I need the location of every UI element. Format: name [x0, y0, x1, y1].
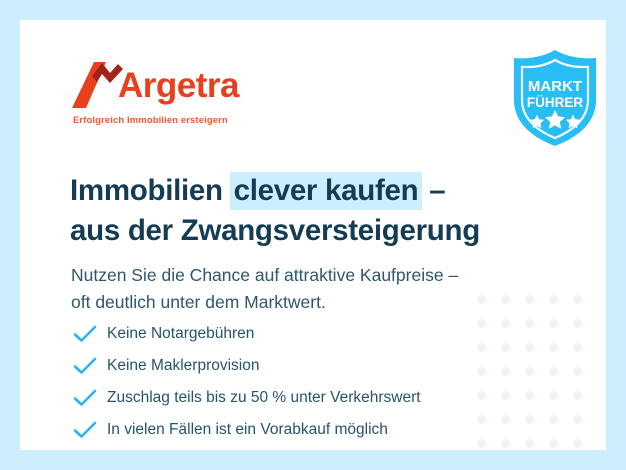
benefit-list: Keine Notargebühren Keine Maklerprovisio… [72, 318, 542, 446]
logo-wordmark: Argetra [118, 66, 239, 106]
list-item-label: Keine Maklerprovision [107, 356, 260, 376]
check-icon [72, 324, 98, 344]
list-item-label: Zuschlag teils bis zu 50 % unter Verkehr… [107, 388, 421, 408]
list-item: Keine Maklerprovision [72, 350, 542, 382]
list-item-label: Keine Notargebühren [107, 324, 254, 344]
list-item-label: In vielen Fällen ist ein Vorabkauf mögli… [107, 420, 388, 440]
badge-line1: MARKT [528, 78, 582, 95]
dot [573, 343, 582, 352]
dot [573, 391, 582, 400]
list-item: Zuschlag teils bis zu 50 % unter Verkehr… [72, 382, 542, 414]
market-leader-badge: MARKT FÜHRER [508, 48, 602, 148]
list-item: In vielen Fällen ist ein Vorabkauf mögli… [72, 414, 542, 446]
dot [573, 439, 582, 448]
promo-card: Argetra Erfolgreich Immobilien ersteiger… [20, 20, 606, 450]
dot [549, 319, 558, 328]
dot [573, 319, 582, 328]
dot [573, 367, 582, 376]
subheading: Nutzen Sie die Chance auf attraktive Kau… [71, 262, 571, 316]
page-title: Immobilien clever kaufen – aus der Zwang… [70, 171, 570, 251]
dot [573, 415, 582, 424]
check-icon [72, 356, 98, 376]
dot [549, 391, 558, 400]
dot [549, 439, 558, 448]
brand-logo[interactable]: Argetra Erfolgreich Immobilien ersteiger… [72, 58, 272, 108]
subheading-line1: Nutzen Sie die Chance auf attraktive Kau… [71, 262, 571, 289]
check-icon [72, 388, 98, 408]
badge-line2: FÜHRER [527, 95, 583, 110]
subheading-line2: oft deutlich unter dem Marktwert. [71, 289, 571, 316]
dot [549, 367, 558, 376]
logo-tagline: Erfolgreich Immobilien ersteigern [73, 115, 228, 126]
logo-row: Argetra [72, 58, 272, 108]
headline-highlight: clever kaufen [230, 172, 423, 210]
check-icon [72, 420, 98, 440]
dot [573, 295, 582, 304]
dot [549, 343, 558, 352]
argetra-roof-a-mark-icon [72, 62, 124, 108]
headline-line1-after: – [421, 174, 445, 207]
dot [549, 415, 558, 424]
list-item: Keine Notargebühren [72, 318, 542, 350]
headline-line2: aus der Zwangsversteigerung [70, 211, 570, 251]
headline-line1-before: Immobilien [70, 174, 231, 207]
